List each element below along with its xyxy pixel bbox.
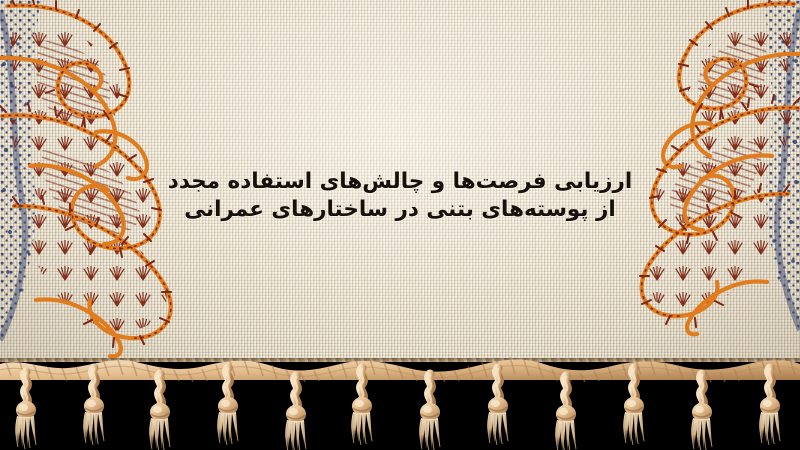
title-line-2: از پوسته‌های بتنی در ساختارهای عمرانی: [0, 196, 800, 224]
title-slide: ارزیابی فرصت‌ها و چالش‌های استفاده مجدد …: [0, 0, 800, 450]
title-line-1: ارزیابی فرصت‌ها و چالش‌های استفاده مجدد: [0, 168, 800, 196]
knotted-tassel-fringe: [0, 354, 800, 450]
page-title: ارزیابی فرصت‌ها و چالش‌های استفاده مجدد …: [0, 168, 800, 224]
